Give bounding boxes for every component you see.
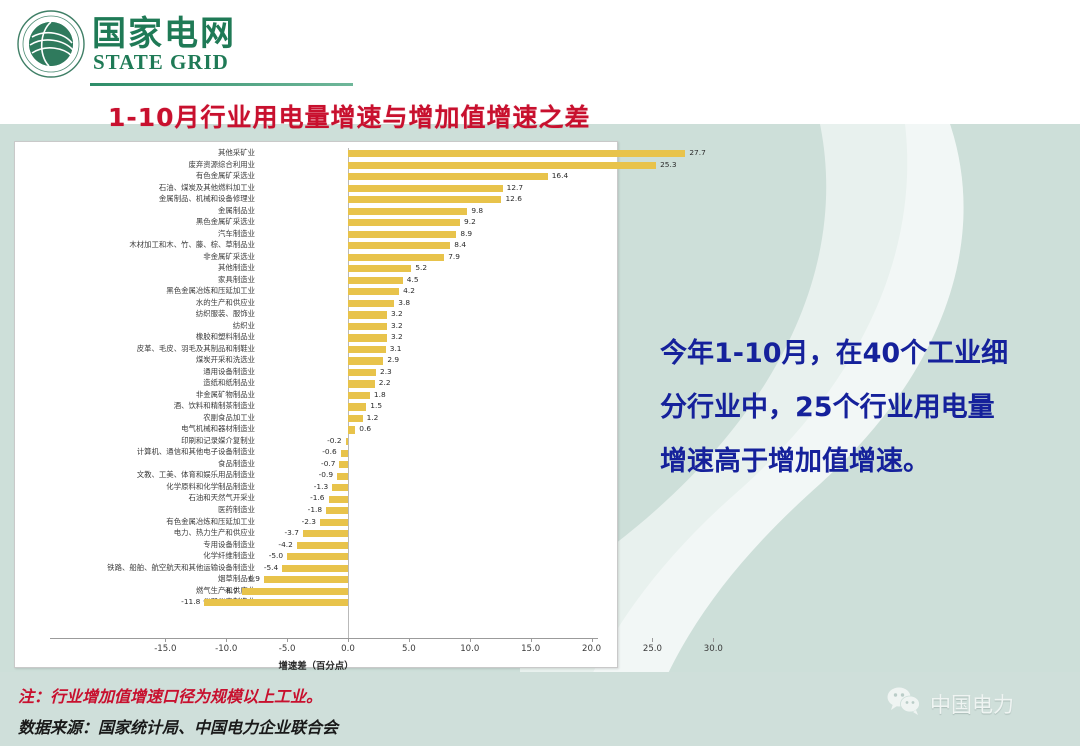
- bar-value-label: 3.2: [391, 331, 403, 343]
- x-tick: [287, 638, 288, 642]
- bar-value-label: 27.7: [689, 147, 705, 159]
- bar-value-label: -3.7: [277, 527, 299, 539]
- bar-value-label: 3.2: [391, 320, 403, 332]
- chart-row: 仪器仪表制造业-11.8: [15, 597, 617, 609]
- bar[interactable]: [348, 150, 685, 157]
- bar[interactable]: [348, 277, 403, 284]
- bar[interactable]: [346, 438, 348, 445]
- chart-note: 注：行业增加值增速口径为规模以上工业。: [18, 683, 322, 707]
- bar-value-label: -11.8: [178, 596, 200, 608]
- category-label: 食品制造业: [0, 458, 255, 470]
- x-tick-label: 0.0: [341, 644, 355, 654]
- bar-value-label: -6.9: [238, 573, 260, 585]
- header-divider: [90, 83, 353, 86]
- category-label: 酒、饮料和精制茶制造业: [0, 400, 255, 412]
- bar-value-label: -5.4: [256, 562, 278, 574]
- category-label: 电力、热力生产和供应业: [0, 527, 255, 539]
- bar-value-label: 2.9: [387, 354, 399, 366]
- bar[interactable]: [348, 300, 394, 307]
- bar-value-label: -2.3: [294, 516, 316, 528]
- bar[interactable]: [348, 265, 411, 272]
- category-label: 农副食品加工业: [0, 412, 255, 424]
- bar[interactable]: [348, 380, 375, 387]
- bar-value-label: -0.9: [311, 469, 333, 481]
- brand-name-en: STATE GRID: [93, 52, 229, 73]
- bar[interactable]: [348, 219, 460, 226]
- x-axis-line: [50, 638, 598, 639]
- bar[interactable]: [348, 173, 548, 180]
- category-label: 家具制造业: [0, 274, 255, 286]
- bar[interactable]: [348, 357, 383, 364]
- bar[interactable]: [348, 415, 363, 422]
- category-label: 其他制造业: [0, 262, 255, 274]
- callout-line-2: 分行业中，25个行业用电量: [660, 381, 1060, 435]
- bar-value-label: 0.6: [359, 423, 371, 435]
- bar[interactable]: [339, 461, 348, 468]
- category-label: 黑色金属矿采选业: [0, 216, 255, 228]
- bar-value-label: 4.5: [407, 274, 419, 286]
- brand-name-cn: 国家电网: [92, 17, 236, 51]
- bar[interactable]: [320, 519, 348, 526]
- bar-value-label: 8.9: [460, 228, 472, 240]
- category-label: 黑色金属冶炼和压延加工业: [0, 285, 255, 297]
- state-grid-globe-icon: [16, 9, 86, 79]
- bar[interactable]: [348, 231, 456, 238]
- data-source: 数据来源：国家统计局、中国电力企业联合会: [18, 714, 338, 738]
- bar-value-label: 1.8: [374, 389, 386, 401]
- x-tick: [713, 638, 714, 642]
- category-label: 汽车制造业: [0, 228, 255, 240]
- chart-rows: 其他采矿业27.7废弃资源综合利用业25.3有色金属矿采选业16.4石油、煤炭及…: [15, 148, 617, 609]
- page-title: 1-10月行业用电量增速与增加值增速之差: [108, 98, 591, 134]
- bar[interactable]: [348, 196, 501, 203]
- x-tick-label: 15.0: [521, 644, 540, 654]
- bar-value-label: 12.6: [505, 193, 521, 205]
- bar[interactable]: [348, 254, 444, 261]
- bar-value-label: -0.7: [313, 458, 335, 470]
- category-label: 计算机、通信和其他电子设备制造业: [0, 446, 255, 458]
- bar[interactable]: [348, 162, 656, 169]
- bar-value-label: 3.1: [390, 343, 402, 355]
- x-tick-label: -15.0: [154, 644, 176, 654]
- category-label: 印刷和记录媒介复制业: [0, 435, 255, 447]
- bar[interactable]: [348, 242, 450, 249]
- bar-value-label: 25.3: [660, 159, 676, 171]
- bar-value-label: -4.2: [271, 539, 293, 551]
- category-label: 其他采矿业: [0, 147, 255, 159]
- category-label: 电气机械和器材制造业: [0, 423, 255, 435]
- category-label: 废弃资源综合利用业: [0, 159, 255, 171]
- category-label: 金属制品业: [0, 205, 255, 217]
- x-tick: [409, 638, 410, 642]
- x-axis-title: 增速差（百分点）: [15, 658, 617, 672]
- callout-text: 今年1-10月，在40个工业细 分行业中，25个行业用电量 增速高于增加值增速。: [660, 327, 1060, 489]
- bar[interactable]: [348, 288, 399, 295]
- x-tick-label: -5.0: [279, 644, 296, 654]
- bar[interactable]: [348, 311, 387, 318]
- category-label: 纺织业: [0, 320, 255, 332]
- bar[interactable]: [348, 334, 387, 341]
- category-label: 木材加工和木、竹、藤、棕、草制品业: [0, 239, 255, 251]
- category-label: 橡胶和塑料制品业: [0, 331, 255, 343]
- bar[interactable]: [341, 450, 348, 457]
- category-label: 煤炭开采和洗选业: [0, 354, 255, 366]
- wechat-label: 中国电力: [930, 689, 1014, 719]
- category-label: 纺织服装、服饰业: [0, 308, 255, 320]
- x-tick: [226, 638, 227, 642]
- category-label: 烟草制品业: [0, 573, 255, 585]
- bar[interactable]: [348, 369, 376, 376]
- bar-value-label: 9.8: [471, 205, 483, 217]
- x-tick-label: 5.0: [402, 644, 416, 654]
- bar-value-label: 8.4: [454, 239, 466, 251]
- bar-value-label: 3.8: [398, 297, 410, 309]
- category-label: 文教、工美、体育和娱乐用品制造业: [0, 469, 255, 481]
- bar[interactable]: [297, 542, 348, 549]
- bar[interactable]: [348, 403, 366, 410]
- category-label: 皮革、毛皮、羽毛及其制品和制鞋业: [0, 343, 255, 355]
- x-tick: [165, 638, 166, 642]
- x-tick-label: 25.0: [643, 644, 662, 654]
- category-label: 有色金属冶炼和压延加工业: [0, 516, 255, 528]
- bar-value-label: -1.6: [303, 492, 325, 504]
- bar[interactable]: [326, 507, 348, 514]
- bar-value-label: -8.7: [216, 585, 238, 597]
- x-tick: [592, 638, 593, 642]
- category-label: 非金属矿物制品业: [0, 389, 255, 401]
- bar-value-label: 12.7: [507, 182, 523, 194]
- category-label: 铁路、船舶、航空航天和其他运输设备制造业: [0, 562, 255, 574]
- chart-panel: 其他采矿业27.7废弃资源综合利用业25.3有色金属矿采选业16.4石油、煤炭及…: [14, 141, 618, 668]
- bar[interactable]: [348, 323, 387, 330]
- bar-value-label: 1.2: [367, 412, 379, 424]
- category-label: 化学原料和化学制品制造业: [0, 481, 255, 493]
- bar-value-label: -1.3: [306, 481, 328, 493]
- x-tick-label: 30.0: [704, 644, 723, 654]
- bar-value-label: -1.8: [300, 504, 322, 516]
- category-label: 石油和天然气开采业: [0, 492, 255, 504]
- bar[interactable]: [204, 599, 348, 606]
- category-label: 通用设备制造业: [0, 366, 255, 378]
- x-tick: [531, 638, 532, 642]
- category-label: 有色金属矿采选业: [0, 170, 255, 182]
- category-label: 专用设备制造业: [0, 539, 255, 551]
- bar-value-label: 5.2: [415, 262, 427, 274]
- bar-value-label: -0.6: [315, 446, 337, 458]
- bar-value-label: 4.2: [403, 285, 415, 297]
- bar-value-label: 16.4: [552, 170, 568, 182]
- bar-value-label: 9.2: [464, 216, 476, 228]
- bar-value-label: 7.9: [448, 251, 460, 263]
- category-label: 非金属矿采选业: [0, 251, 255, 263]
- bar-value-label: -0.2: [320, 435, 342, 447]
- bar[interactable]: [348, 208, 467, 215]
- bar[interactable]: [242, 588, 348, 595]
- wechat-watermark: 中国电力: [886, 686, 1014, 721]
- x-tick: [348, 638, 349, 642]
- bar[interactable]: [337, 473, 348, 480]
- bar[interactable]: [348, 185, 503, 192]
- bar[interactable]: [329, 496, 348, 503]
- x-tick-label: 20.0: [582, 644, 601, 654]
- bar[interactable]: [348, 392, 370, 399]
- bar-value-label: -5.0: [261, 550, 283, 562]
- bar[interactable]: [303, 530, 348, 537]
- bar[interactable]: [332, 484, 348, 491]
- category-label: 医药制造业: [0, 504, 255, 516]
- wechat-icon: [886, 686, 922, 721]
- bar[interactable]: [264, 576, 348, 583]
- bar-value-label: 3.2: [391, 308, 403, 320]
- bar[interactable]: [282, 565, 348, 572]
- bar[interactable]: [348, 346, 386, 353]
- category-label: 水的生产和供应业: [0, 297, 255, 309]
- bar-value-label: 1.5: [370, 400, 382, 412]
- bar[interactable]: [348, 426, 355, 433]
- callout-line-3: 增速高于增加值增速。: [660, 435, 1060, 489]
- bar-value-label: 2.2: [379, 377, 391, 389]
- category-label: 金属制品、机械和设备修理业: [0, 193, 255, 205]
- x-tick: [652, 638, 653, 642]
- bar[interactable]: [287, 553, 348, 560]
- category-label: 造纸和纸制品业: [0, 377, 255, 389]
- bar-value-label: 2.3: [380, 366, 392, 378]
- callout-line-1: 今年1-10月，在40个工业细: [660, 327, 1060, 381]
- x-tick-label: 10.0: [460, 644, 479, 654]
- slide-canvas: 国家电网 STATE GRID 1-10月行业用电量增速与增加值增速之差 其他采…: [0, 0, 1080, 746]
- category-label: 化学纤维制造业: [0, 550, 255, 562]
- bar-chart: 其他采矿业27.7废弃资源综合利用业25.3有色金属矿采选业16.4石油、煤炭及…: [15, 142, 617, 667]
- x-tick-label: -10.0: [215, 644, 237, 654]
- x-tick: [470, 638, 471, 642]
- category-label: 石油、煤炭及其他燃料加工业: [0, 182, 255, 194]
